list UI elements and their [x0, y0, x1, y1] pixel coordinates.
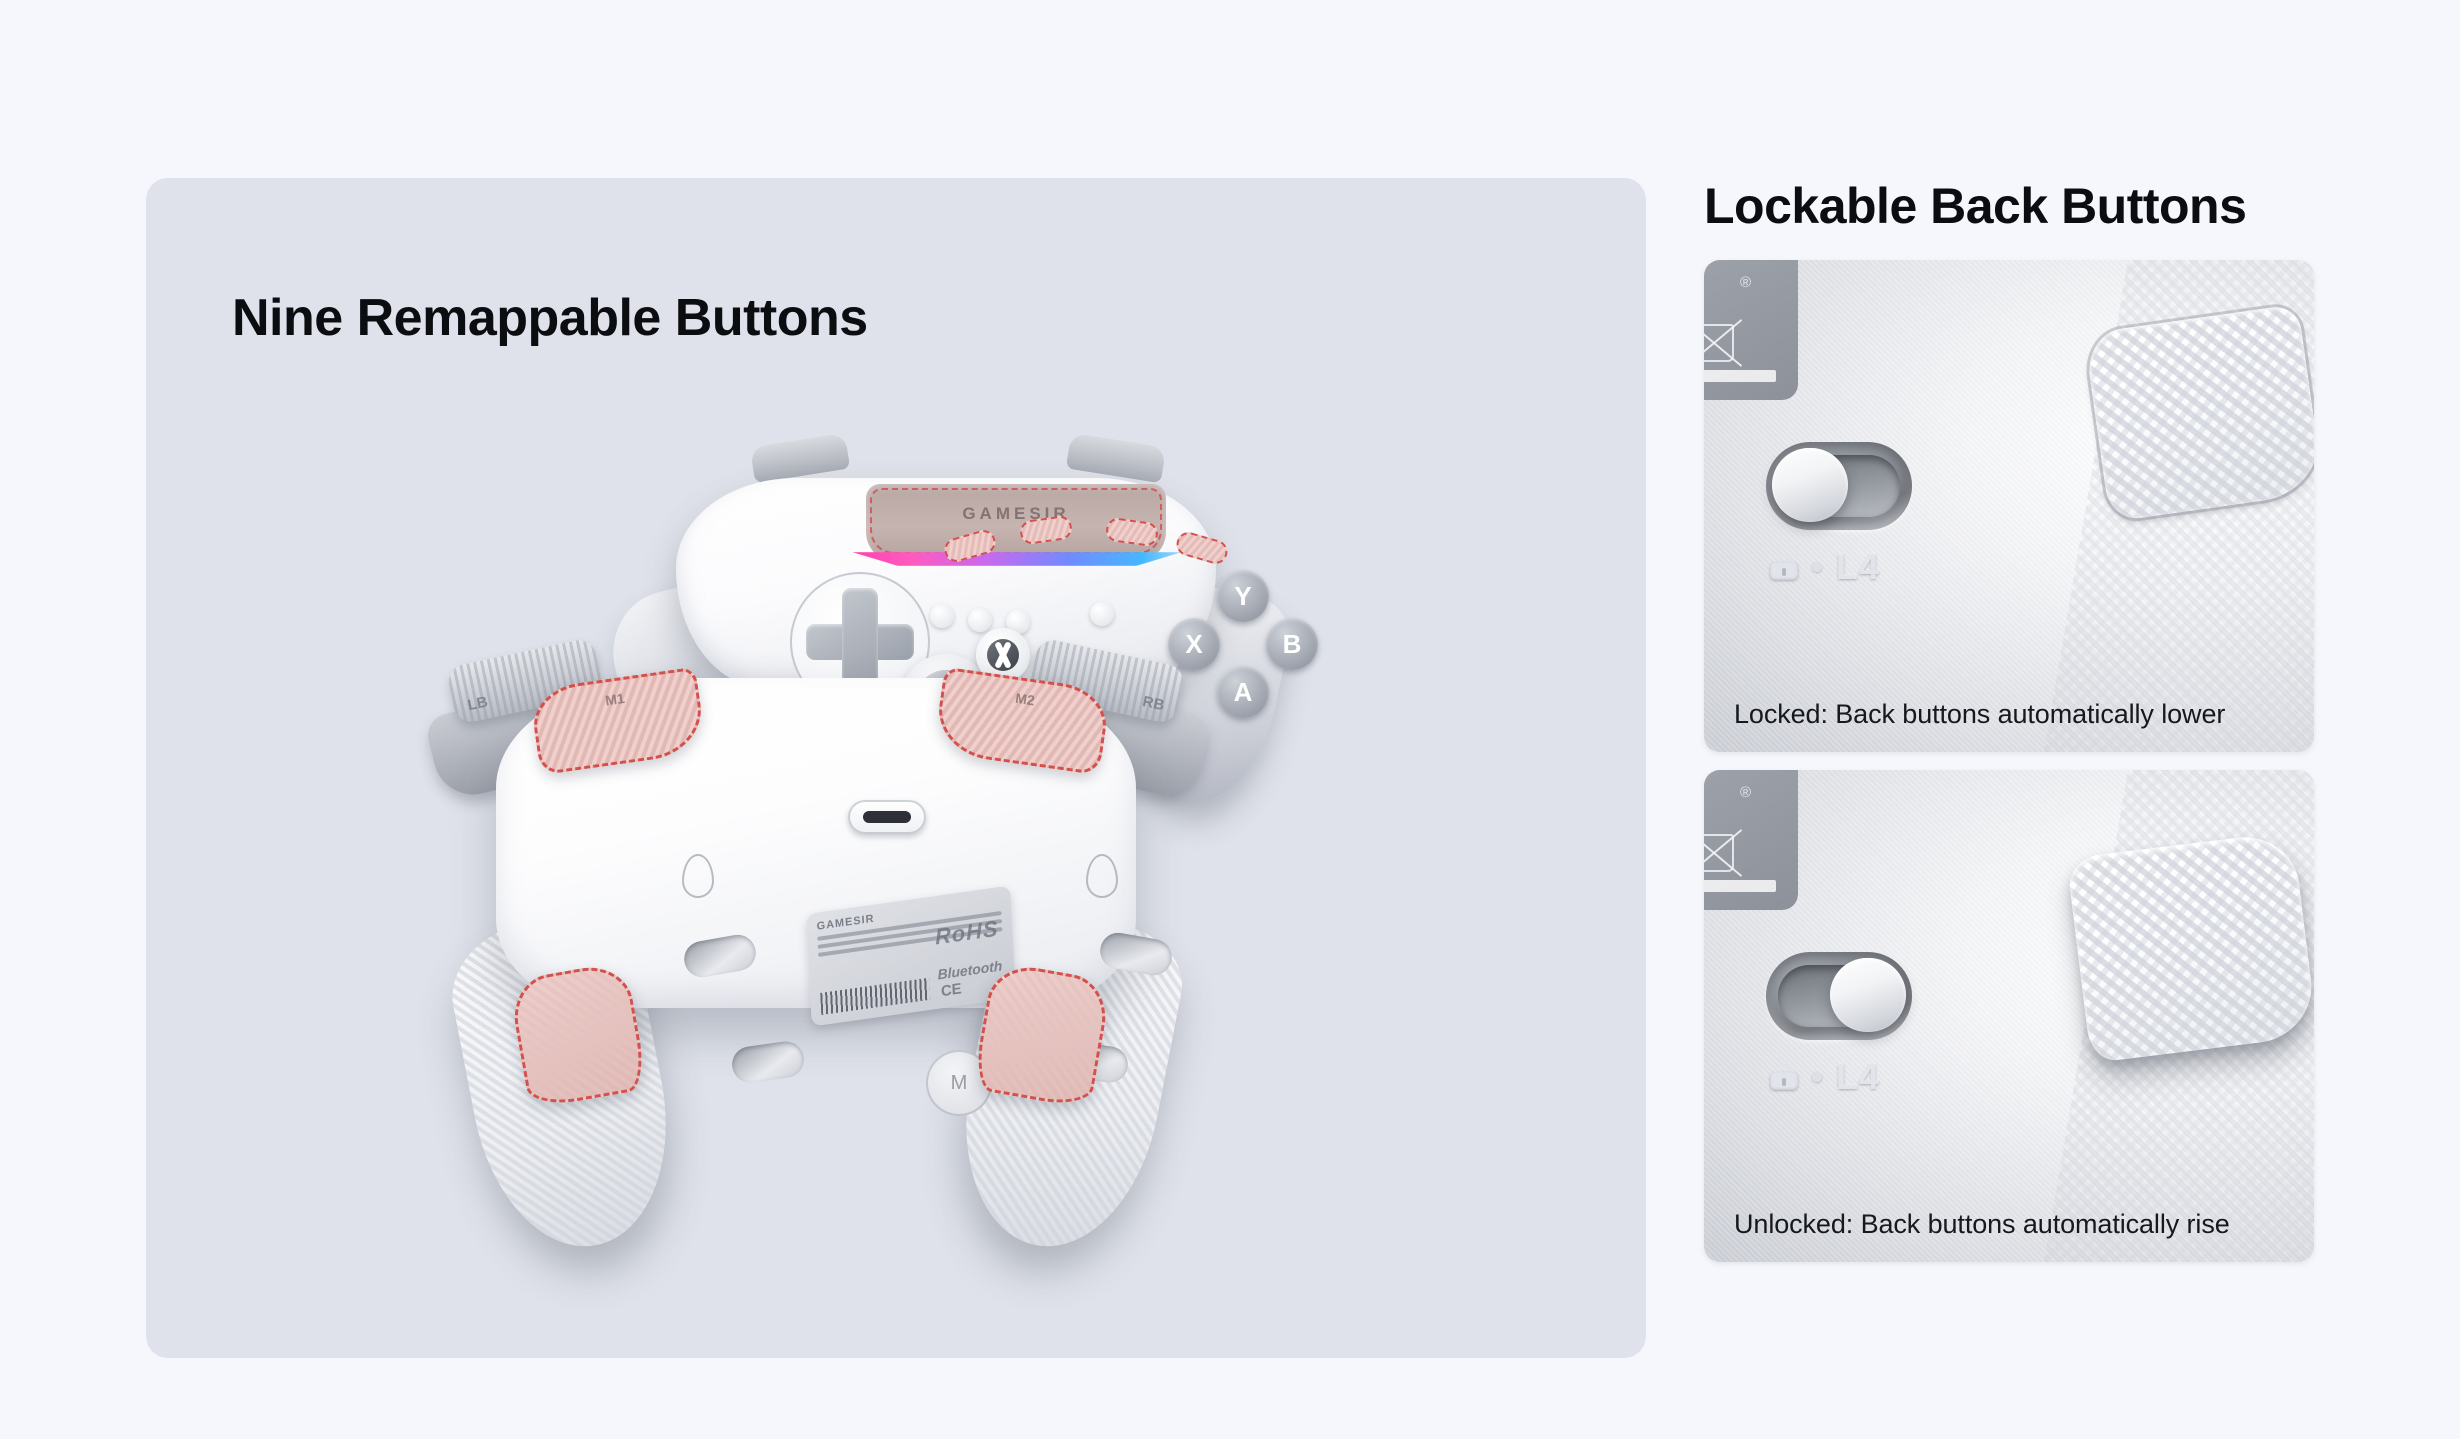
back-vent-left	[730, 1039, 806, 1085]
weee-bin-icon-unlocked	[1704, 834, 1734, 872]
lock-switch-unlocked[interactable]: L4	[1766, 952, 1946, 1102]
weee-bin-icon-locked	[1704, 324, 1734, 362]
photo-locked: th ® L4 Locked: Bac	[1704, 260, 2314, 752]
controller-back-view: LB RB GAMESIR	[426, 618, 1206, 1298]
bluetooth-mark: Bluetooth	[937, 957, 1003, 982]
sticker-bar-locked	[1704, 370, 1776, 382]
switch-legend-locked: L4	[1770, 546, 1880, 588]
sticker-bar-unlocked	[1704, 880, 1776, 892]
remappable-pill-4	[1174, 529, 1231, 566]
barcode	[820, 978, 930, 1015]
right-panel-title: Lockable Back Buttons	[1704, 178, 2314, 234]
face-button-a: A	[1217, 666, 1269, 718]
back-detail-right	[1086, 854, 1118, 898]
front-shoulder-left	[750, 433, 850, 484]
caption-unlocked: Unlocked: Back buttons automatically ris…	[1734, 1209, 2230, 1240]
bluetooth-sticker-locked: th ®	[1704, 260, 1798, 400]
switch-label-unlocked: L4	[1836, 1056, 1880, 1098]
ce-mark: CE	[941, 980, 963, 1000]
legend-separator-dot-locked	[1812, 562, 1822, 572]
bumper-left-label: LB	[466, 693, 489, 714]
sticker-registered-locked: ®	[1740, 274, 1751, 291]
photo-unlocked: th ® L4 Unlocked: B	[1704, 770, 2314, 1262]
back-paddle-m2-label: M2	[1014, 690, 1035, 709]
switch-label-locked: L4	[1836, 546, 1880, 588]
page-root: Nine Remappable Buttons GAMESIR	[0, 0, 2460, 1439]
switch-knob-unlocked[interactable]	[1830, 958, 1906, 1032]
regulatory-label: GAMESIR RoHS Bluetooth CE	[806, 886, 1016, 1027]
sticker-registered-unlocked: ®	[1740, 784, 1751, 801]
switch-knob-locked[interactable]	[1772, 448, 1848, 522]
bluetooth-sticker-unlocked: th ®	[1704, 770, 1798, 910]
rgb-light-strip	[852, 552, 1182, 566]
nine-remappable-buttons-card: Nine Remappable Buttons GAMESIR	[146, 178, 1646, 1358]
lock-switch-locked[interactable]: L4	[1766, 442, 1946, 592]
front-shoulder-right	[1066, 433, 1166, 484]
lock-icon	[1770, 554, 1798, 580]
usb-c-port	[848, 800, 926, 834]
back-screw-left	[681, 932, 758, 980]
switch-legend-unlocked: L4	[1770, 1056, 1880, 1098]
lock-keyhole	[1782, 1078, 1786, 1086]
back-button-raised	[2066, 831, 2314, 1063]
back-screw-right	[1097, 930, 1174, 978]
back-paddle-m1-label: M1	[604, 690, 625, 709]
lockable-back-buttons-section: Lockable Back Buttons th ®	[1704, 178, 2314, 1358]
lock-keyhole	[1782, 568, 1786, 576]
back-detail-left	[682, 854, 714, 898]
face-button-b: B	[1266, 618, 1318, 670]
bumper-right-label: RB	[1141, 693, 1166, 714]
caption-locked: Locked: Back buttons automatically lower	[1734, 699, 2225, 730]
face-button-y: Y	[1217, 570, 1269, 622]
back-button-lowered	[2084, 304, 2314, 522]
controller-illustration: GAMESIR	[146, 178, 1646, 1358]
lock-icon	[1770, 1064, 1798, 1090]
legend-separator-dot-unlocked	[1812, 1072, 1822, 1082]
